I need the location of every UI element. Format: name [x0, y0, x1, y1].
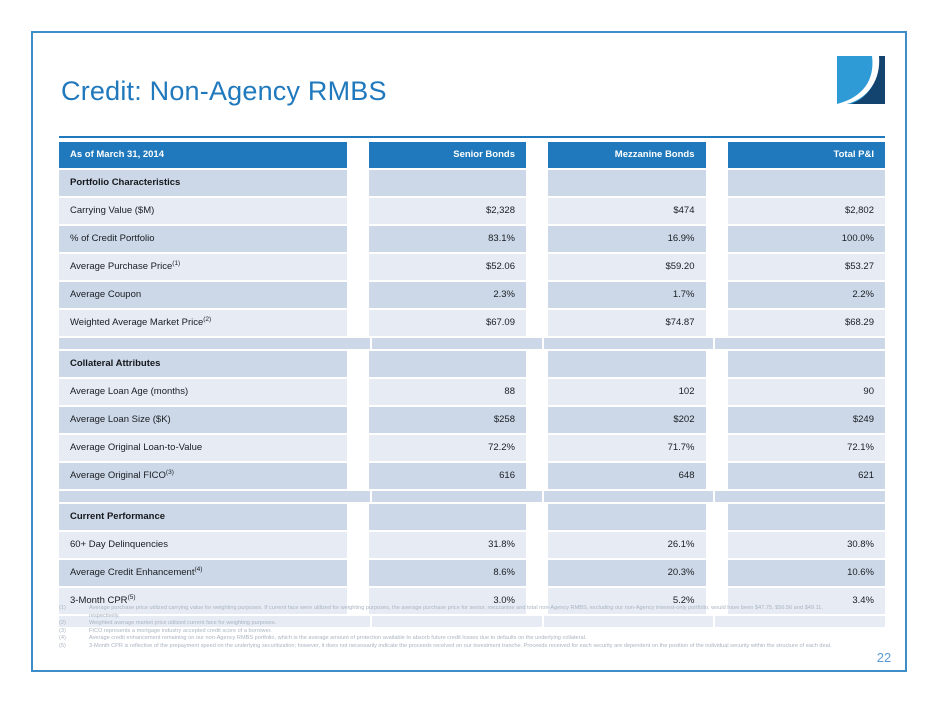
table-row: Average Coupon2.3%1.7%2.2% [59, 282, 885, 308]
table-row: % of Credit Portfolio83.1%16.9%100.0% [59, 226, 885, 252]
column-divider [706, 226, 728, 252]
row-value: $67.09 [369, 310, 527, 336]
footnote-marker: (4) [194, 566, 202, 573]
footnote-marker: (3) [166, 469, 174, 476]
spacer-cell [59, 491, 370, 502]
section-heading-blank [548, 504, 706, 530]
footnote-marker: (5) [128, 594, 136, 601]
row-label: Average Original FICO(3) [59, 463, 347, 489]
column-divider [706, 282, 728, 308]
table-row: 60+ Day Delinquencies31.8%26.1%30.8% [59, 532, 885, 558]
section-header-row: Current Performance [59, 504, 885, 530]
row-value: $53.27 [728, 254, 886, 280]
section-header-row: Portfolio Characteristics [59, 170, 885, 196]
column-divider [706, 310, 728, 336]
column-divider [347, 504, 369, 530]
section-spacer [59, 338, 885, 349]
column-divider [347, 407, 369, 433]
footnote-text: FICO represents a mortgage industry acce… [89, 628, 849, 636]
row-label-text: Average Loan Age (months) [70, 386, 188, 397]
column-header-1: Senior Bonds [369, 142, 527, 168]
footnote-number: (4) [59, 635, 89, 643]
spacer-cell [715, 338, 885, 349]
row-label: Average Purchase Price(1) [59, 254, 347, 280]
section-heading-blank [369, 504, 527, 530]
column-divider [706, 351, 728, 377]
column-divider [526, 170, 548, 196]
column-divider [526, 226, 548, 252]
table-row: Average Loan Age (months)8810290 [59, 379, 885, 405]
column-divider [347, 463, 369, 489]
column-divider [347, 254, 369, 280]
row-value: 2.3% [369, 282, 527, 308]
row-value: 10.6% [728, 560, 886, 586]
column-divider [526, 351, 548, 377]
table-header-row: As of March 31, 2014Senior BondsMezzanin… [59, 142, 885, 168]
row-label-text: Average Original Loan-to-Value [70, 442, 202, 453]
row-label: Weighted Average Market Price(2) [59, 310, 347, 336]
table-row: Average Original FICO(3)616648621 [59, 463, 885, 489]
section-heading-blank [369, 170, 527, 196]
table-row: Average Loan Size ($K)$258$202$249 [59, 407, 885, 433]
metrics-table: As of March 31, 2014Senior BondsMezzanin… [59, 142, 885, 627]
row-value: $474 [548, 198, 706, 224]
slide-frame: Credit: Non-Agency RMBS As of March 31, … [31, 31, 907, 672]
table-row: Average Purchase Price(1)$52.06$59.20$53… [59, 254, 885, 280]
row-value: 26.1% [548, 532, 706, 558]
row-label-text: 60+ Day Delinquencies [70, 539, 168, 550]
column-divider [526, 310, 548, 336]
column-divider [706, 435, 728, 461]
row-label: Average Credit Enhancement(4) [59, 560, 347, 586]
row-label-text: Weighted Average Market Price [70, 317, 203, 328]
row-label: Carrying Value ($M) [59, 198, 347, 224]
table-row: Average Credit Enhancement(4)8.6%20.3%10… [59, 560, 885, 586]
column-divider [526, 504, 548, 530]
column-divider [347, 310, 369, 336]
row-value: $74.87 [548, 310, 706, 336]
footnote-item: (1)Average purchase price utilized carry… [59, 605, 849, 620]
row-label: % of Credit Portfolio [59, 226, 347, 252]
column-divider [706, 198, 728, 224]
column-divider [526, 379, 548, 405]
row-label: Average Original Loan-to-Value [59, 435, 347, 461]
row-value: 616 [369, 463, 527, 489]
row-value: 2.2% [728, 282, 886, 308]
section-heading-blank [369, 351, 527, 377]
row-label-text: Average Coupon [70, 289, 141, 300]
footnote-item: (5)3-Month CPR is reflective of the prep… [59, 643, 849, 651]
column-divider [526, 407, 548, 433]
column-divider [706, 407, 728, 433]
row-value: $2,328 [369, 198, 527, 224]
column-divider [526, 142, 548, 168]
row-value: 72.2% [369, 435, 527, 461]
row-value: 20.3% [548, 560, 706, 586]
column-divider [347, 532, 369, 558]
section-heading: Collateral Attributes [59, 351, 347, 377]
footnote-number: (1) [59, 605, 89, 613]
row-label: Average Loan Size ($K) [59, 407, 347, 433]
column-divider [347, 282, 369, 308]
row-value: 90 [728, 379, 886, 405]
row-label: Average Loan Age (months) [59, 379, 347, 405]
row-value: 88 [369, 379, 527, 405]
section-heading: Current Performance [59, 504, 347, 530]
column-divider [347, 435, 369, 461]
column-divider [526, 282, 548, 308]
footnote-text: Average purchase price utilized carrying… [89, 605, 849, 620]
row-label: 60+ Day Delinquencies [59, 532, 347, 558]
column-divider [526, 254, 548, 280]
column-header-2: Mezzanine Bonds [548, 142, 706, 168]
section-heading-blank [728, 170, 886, 196]
row-value: 8.6% [369, 560, 527, 586]
spacer-cell [715, 491, 885, 502]
column-divider [706, 142, 728, 168]
footnote-marker: (1) [172, 260, 180, 267]
footnote-text: Average credit enhancement remaining on … [89, 635, 849, 643]
section-heading-blank [728, 504, 886, 530]
row-value: 83.1% [369, 226, 527, 252]
table-row: Average Original Loan-to-Value72.2%71.7%… [59, 435, 885, 461]
title-rule [59, 136, 885, 138]
column-divider [347, 560, 369, 586]
table-row: Weighted Average Market Price(2)$67.09$7… [59, 310, 885, 336]
row-value: 100.0% [728, 226, 886, 252]
footnote-item: (3)FICO represents a mortgage industry a… [59, 628, 849, 636]
spacer-cell [544, 338, 714, 349]
column-divider [706, 254, 728, 280]
spacer-cell [372, 338, 542, 349]
row-value: $258 [369, 407, 527, 433]
row-value: 71.7% [548, 435, 706, 461]
column-divider [526, 532, 548, 558]
column-divider [347, 142, 369, 168]
page-title: Credit: Non-Agency RMBS [61, 76, 387, 107]
row-value: $52.06 [369, 254, 527, 280]
column-divider [706, 532, 728, 558]
column-header-3: Total P&I [728, 142, 886, 168]
row-value: $59.20 [548, 254, 706, 280]
section-heading-blank [728, 351, 886, 377]
row-value: $2,802 [728, 198, 886, 224]
row-value: 16.9% [548, 226, 706, 252]
row-value: 31.8% [369, 532, 527, 558]
column-divider [706, 504, 728, 530]
section-spacer [59, 491, 885, 502]
column-divider [347, 198, 369, 224]
column-divider [706, 463, 728, 489]
column-divider [347, 379, 369, 405]
column-divider [706, 170, 728, 196]
table-row: Carrying Value ($M)$2,328$474$2,802 [59, 198, 885, 224]
column-divider [706, 560, 728, 586]
column-header-0: As of March 31, 2014 [59, 142, 347, 168]
footnote-number: (2) [59, 620, 89, 628]
spacer-cell [372, 491, 542, 502]
footnote-number: (5) [59, 643, 89, 651]
row-value: 72.1% [728, 435, 886, 461]
row-value: $202 [548, 407, 706, 433]
footnote-item: (4)Average credit enhancement remaining … [59, 635, 849, 643]
row-value: 621 [728, 463, 886, 489]
section-heading-blank [548, 170, 706, 196]
row-label-text: Average Purchase Price [70, 261, 172, 272]
row-value: 1.7% [548, 282, 706, 308]
row-value: $68.29 [728, 310, 886, 336]
row-label-text: Average Loan Size ($K) [70, 414, 171, 425]
row-label-text: Average Credit Enhancement [70, 567, 194, 578]
spacer-cell [544, 491, 714, 502]
row-value: 102 [548, 379, 706, 405]
column-divider [526, 198, 548, 224]
footnote-number: (3) [59, 628, 89, 636]
column-divider [526, 463, 548, 489]
section-header-row: Collateral Attributes [59, 351, 885, 377]
column-divider [526, 560, 548, 586]
row-label: Average Coupon [59, 282, 347, 308]
footnote-text: Weighted average market price utilized c… [89, 620, 849, 628]
spacer-cell [59, 338, 370, 349]
column-divider [706, 379, 728, 405]
footnote-text: 3-Month CPR is reflective of the prepaym… [89, 643, 849, 651]
column-divider [347, 226, 369, 252]
row-value: 30.8% [728, 532, 886, 558]
section-heading: Portfolio Characteristics [59, 170, 347, 196]
column-divider [347, 170, 369, 196]
footnote-marker: (2) [203, 316, 211, 323]
section-heading-blank [548, 351, 706, 377]
page-number: 22 [869, 650, 899, 665]
row-label-text: % of Credit Portfolio [70, 233, 154, 244]
footnotes-list: (1)Average purchase price utilized carry… [59, 605, 849, 651]
row-value: $249 [728, 407, 886, 433]
column-divider [347, 351, 369, 377]
row-label-text: Carrying Value ($M) [70, 205, 154, 216]
company-logo-icon [836, 55, 886, 105]
row-value: 648 [548, 463, 706, 489]
footnote-item: (2)Weighted average market price utilize… [59, 620, 849, 628]
column-divider [526, 435, 548, 461]
row-label-text: Average Original FICO [70, 470, 166, 481]
